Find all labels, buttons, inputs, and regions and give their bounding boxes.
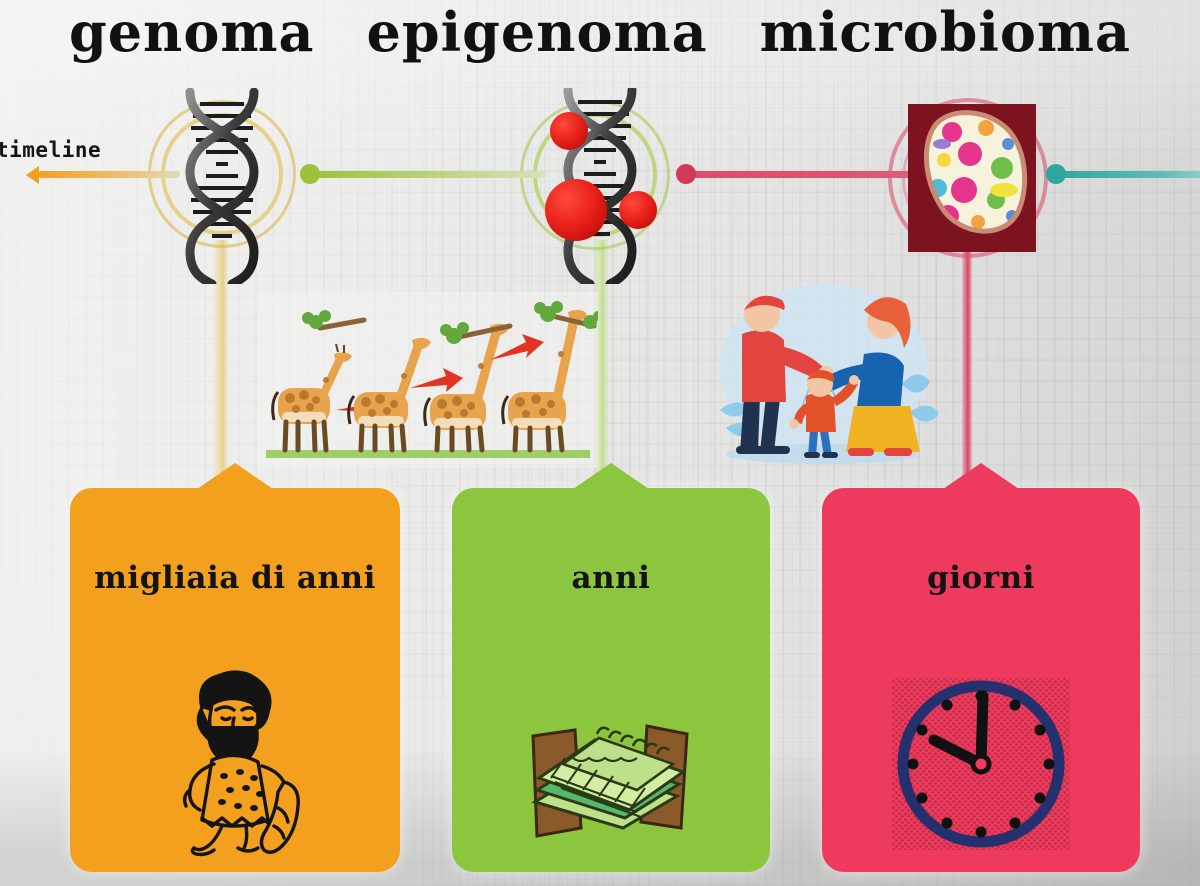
giraffe-3 <box>425 324 509 450</box>
card-notch-pink <box>943 463 1019 489</box>
giraffe-evolution-illustration <box>258 292 598 468</box>
timeline-arrowhead-left <box>26 166 39 184</box>
clock-icon-wrap <box>822 668 1140 858</box>
dna-helix-methylated-icon <box>534 88 664 284</box>
timeline-segment-green <box>310 171 546 178</box>
giraffe-2 <box>349 338 431 450</box>
timeline-dot-pink[interactable] <box>676 164 696 184</box>
timeline-segment-orange <box>38 171 180 178</box>
timeline-label: timeline <box>0 138 101 162</box>
giraffe-4 <box>503 310 587 450</box>
title-epigenoma: epigenoma <box>366 4 707 61</box>
caveman-icon-wrap <box>70 668 400 858</box>
giraffe-1 <box>273 344 352 450</box>
timeline-segment-pink <box>686 171 934 178</box>
methylation-mark <box>550 112 588 150</box>
card-label-giorni: giorni <box>822 560 1140 596</box>
card-giorni[interactable]: giorni <box>822 488 1140 872</box>
clock-icon <box>886 668 1076 858</box>
evolution-arrow <box>410 368 463 392</box>
title-genoma: genoma <box>69 4 315 61</box>
card-notch-green <box>573 463 649 489</box>
card-anni[interactable]: anni <box>452 488 770 872</box>
calendar-icon-wrap <box>452 678 770 858</box>
caveman-icon <box>150 668 320 858</box>
calendar-icon <box>511 678 711 858</box>
node-microbioma[interactable] <box>908 104 1036 252</box>
node-genoma[interactable] <box>160 88 284 284</box>
card-label-migliaia: migliaia di anni <box>70 560 400 596</box>
timeline-dot-green[interactable] <box>300 164 320 184</box>
family-marionette-illustration <box>704 276 938 472</box>
timeline-segment-teal <box>1056 171 1200 178</box>
timeline-dot-teal[interactable] <box>1046 164 1066 184</box>
gut-microbiota-icon <box>908 104 1036 252</box>
card-notch-orange <box>197 463 273 489</box>
title-microbioma: microbioma <box>760 4 1131 61</box>
methylation-mark <box>619 191 657 229</box>
methylation-mark <box>545 179 607 241</box>
header-title-row: genoma epigenoma microbioma <box>0 4 1200 61</box>
card-label-anni: anni <box>452 560 770 596</box>
dna-helix-icon <box>160 88 284 284</box>
card-migliaia-di-anni[interactable]: migliaia di anni <box>70 488 400 872</box>
infographic-canvas: genoma epigenoma microbioma timeline <box>0 0 1200 886</box>
node-epigenoma[interactable] <box>534 88 664 284</box>
